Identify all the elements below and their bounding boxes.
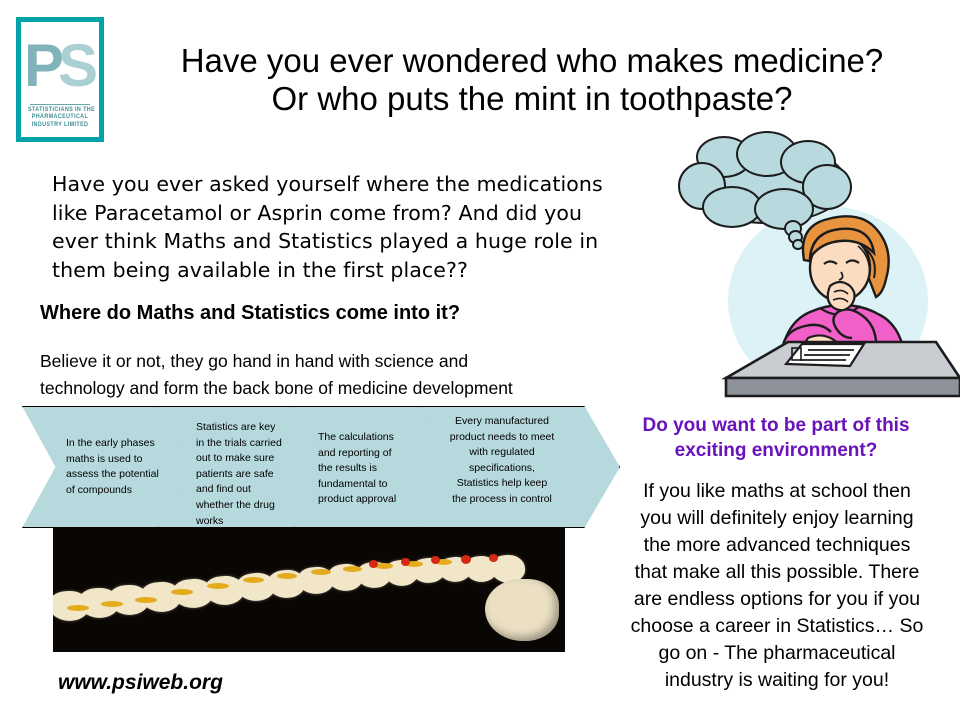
disc-marker [171,589,193,595]
cta-line-8: industry is waiting for you! [594,667,960,694]
chev2-line-1: Statistics are key [196,420,332,436]
poster-title: Have you ever wondered who makes medicin… [112,42,952,118]
cta-line-3: the more advanced techniques [594,532,960,559]
chev1-line-2: maths is used to [66,452,198,468]
chev2-line-3: out to make sure [196,451,332,467]
chev2-line-6: whether the drug [196,498,332,514]
process-step-early-phases-text: In the early phases maths is used to ass… [66,436,198,498]
chev2-line-5: and find out [196,482,332,498]
cta-heading: Do you want to be part of this exciting … [600,413,952,463]
believe-line-2: technology and form the back bone of med… [40,375,660,402]
disc-marker [277,573,297,579]
spine-photograph [53,527,565,652]
section-subheading: Where do Maths and Statistics come into … [40,302,460,325]
cta-line-7: go on - The pharmaceutical [594,640,960,667]
logo-divider [30,104,90,105]
hand-at-chin [828,282,855,310]
cta-heading-line-2: exciting environment? [600,438,952,463]
chev1-line-4: of compounds [66,483,198,499]
nerve-marker [369,560,378,568]
chev4-line-4: specifications, [426,461,578,477]
disc-marker [343,566,362,572]
psi-logo-mark: PSI [24,27,96,105]
title-line-1: Have you ever wondered who makes medicin… [112,42,952,80]
girl-thinking-illustration [668,140,960,402]
cta-paragraph: If you like maths at school then you wil… [594,478,960,694]
logo-tagline-line-3: INDUSTRY LIMITED [28,121,92,130]
intro-line-3: ever think Maths and Statistics played a… [52,227,660,256]
desk-front [726,378,960,396]
disc-marker [67,605,89,611]
chev4-line-2: product needs to meet [426,430,578,446]
chev1-line-3: assess the potential [66,467,198,483]
cta-line-6: choose a career in Statistics… So [594,613,960,640]
nerve-marker [461,555,471,564]
intro-paragraph: Have you ever asked yourself where the m… [52,170,660,284]
nerve-marker [489,554,498,562]
logo-letter-s: S [58,32,92,99]
nerve-marker [401,558,410,566]
chev4-line-1: Every manufactured [426,414,578,430]
disc-marker [243,577,264,583]
cta-line-4: that make all this possible. There [594,559,960,586]
chev2-line-2: in the trials carried [196,436,332,452]
logo-inner-panel: PSI STATISTICIANS IN THE PHARMACEUTICAL … [24,25,96,134]
chev4-line-5: Statistics help keep [426,476,578,492]
poster-canvas: PSI STATISTICIANS IN THE PHARMACEUTICAL … [0,0,960,720]
logo-letter-i: I [92,32,96,99]
chev4-line-3: with regulated [426,445,578,461]
cta-line-5: are endless options for you if you [594,586,960,613]
title-line-2: Or who puts the mint in toothpaste? [112,80,952,118]
cta-line-1: If you like maths at school then [594,478,960,505]
girl-figure [668,140,960,402]
intro-line-2: like Paracetamol or Asprin come from? An… [52,199,660,228]
psi-logo: PSI STATISTICIANS IN THE PHARMACEUTICAL … [16,17,104,142]
believe-line-1: Believe it or not, they go hand in hand … [40,348,660,375]
chev1-line-1: In the early phases [66,436,198,452]
intro-line-1: Have you ever asked yourself where the m… [52,170,660,199]
believe-paragraph: Believe it or not, they go hand in hand … [40,348,660,402]
process-step-trials-text: Statistics are key in the trials carried… [196,420,332,529]
disc-marker [311,569,331,575]
logo-letter-p: P [24,32,58,99]
process-chevron-diagram: In the early phases maths is used to ass… [22,406,597,528]
disc-marker [135,597,157,603]
logo-tagline: STATISTICIANS IN THE PHARMACEUTICAL INDU… [28,104,92,130]
nerve-marker [431,556,440,564]
cta-heading-line-1: Do you want to be part of this [600,413,952,438]
intro-line-4: them being available in the first place?… [52,256,660,285]
disc-marker [101,601,123,607]
chev4-line-6: the process in control [426,492,578,508]
process-step-manufacturing-text: Every manufactured product needs to meet… [426,414,578,508]
skull-base [485,579,559,641]
website-url[interactable]: www.psiweb.org [58,671,223,695]
disc-marker [207,583,229,589]
cta-line-2: you will definitely enjoy learning [594,505,960,532]
chev2-line-4: patients are safe [196,467,332,483]
